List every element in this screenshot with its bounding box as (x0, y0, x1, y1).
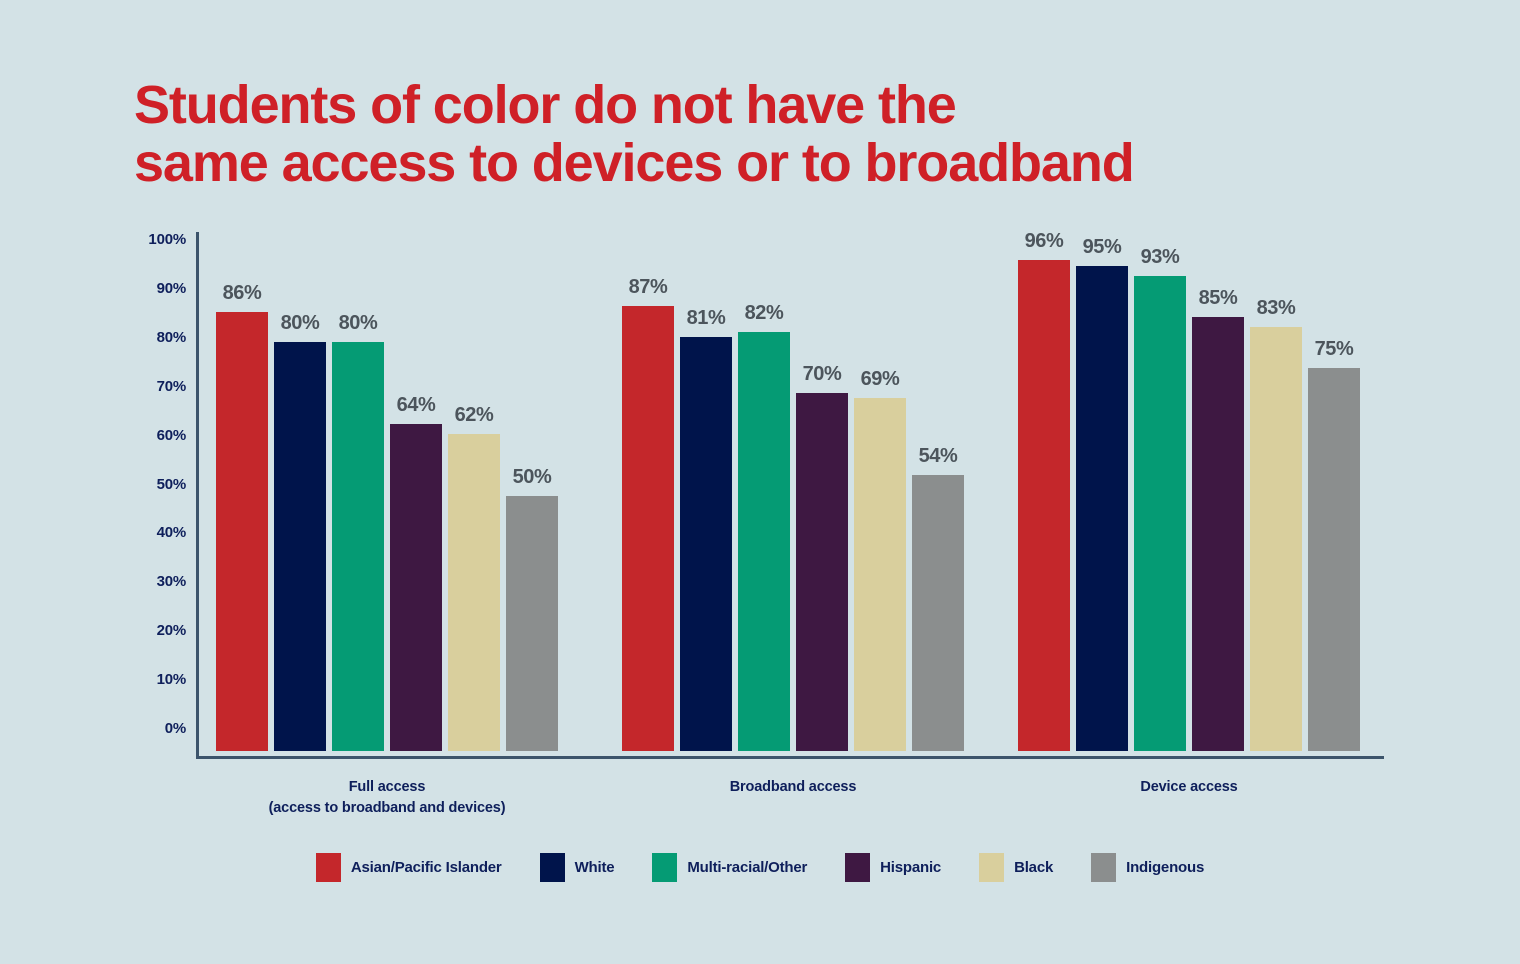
legend-swatch-icon (652, 853, 677, 882)
bars-layer: 86%80%80%64%62%50%Full access(access to … (0, 0, 1520, 964)
bar-value-label: 54% (919, 445, 958, 468)
bar-2-4[interactable]: 83% (1250, 327, 1302, 751)
legend-item-4[interactable]: Black (979, 853, 1053, 882)
bar-value-label: 83% (1257, 297, 1296, 320)
bar-0-3[interactable]: 64% (390, 424, 442, 751)
group-label-2: Device access (939, 777, 1439, 798)
bar-value-label: 64% (397, 394, 436, 417)
bar-value-label: 70% (803, 363, 842, 386)
bar-2-2[interactable]: 93% (1134, 276, 1186, 751)
bar-value-label: 86% (223, 282, 262, 305)
bar-value-label: 75% (1315, 338, 1354, 361)
group-label-line-1: Device access (939, 777, 1439, 798)
legend-item-0[interactable]: Asian/Pacific Islander (316, 853, 502, 882)
bar-value-label: 87% (629, 276, 668, 299)
legend-label: Multi-racial/Other (687, 859, 807, 876)
legend-label: White (575, 859, 615, 876)
bar-0-5[interactable]: 50% (506, 496, 558, 752)
bar-value-label: 93% (1141, 246, 1180, 269)
bar-value-label: 81% (687, 307, 726, 330)
bar-1-0[interactable]: 87% (622, 306, 674, 751)
bar-0-2[interactable]: 80% (332, 342, 384, 751)
legend-label: Hispanic (880, 859, 941, 876)
bar-2-0[interactable]: 96% (1018, 260, 1070, 751)
bar-2-1[interactable]: 95% (1076, 266, 1128, 751)
bar-value-label: 85% (1199, 287, 1238, 310)
legend-item-2[interactable]: Multi-racial/Other (652, 853, 807, 882)
legend-swatch-icon (979, 853, 1004, 882)
legend-swatch-icon (1091, 853, 1116, 882)
bar-value-label: 82% (745, 302, 784, 325)
bar-0-0[interactable]: 86% (216, 312, 268, 751)
bar-value-label: 62% (455, 404, 494, 427)
legend-label: Asian/Pacific Islander (351, 859, 502, 876)
chart-canvas: Students of color do not have the same a… (0, 0, 1520, 964)
legend-swatch-icon (540, 853, 565, 882)
bar-value-label: 96% (1025, 230, 1064, 253)
bar-2-5[interactable]: 75% (1308, 368, 1360, 751)
legend-swatch-icon (316, 853, 341, 882)
bar-1-5[interactable]: 54% (912, 475, 964, 751)
bar-value-label: 80% (281, 312, 320, 335)
bar-value-label: 69% (861, 368, 900, 391)
legend-item-5[interactable]: Indigenous (1091, 853, 1204, 882)
bar-value-label: 50% (513, 466, 552, 489)
legend-label: Black (1014, 859, 1053, 876)
legend-swatch-icon (845, 853, 870, 882)
legend-item-3[interactable]: Hispanic (845, 853, 941, 882)
chart-legend: Asian/Pacific IslanderWhiteMulti-racial/… (0, 853, 1520, 882)
legend-label: Indigenous (1126, 859, 1204, 876)
bar-1-4[interactable]: 69% (854, 398, 906, 751)
bar-0-4[interactable]: 62% (448, 434, 500, 751)
bar-2-3[interactable]: 85% (1192, 317, 1244, 751)
legend-item-1[interactable]: White (540, 853, 615, 882)
bar-1-2[interactable]: 82% (738, 332, 790, 751)
bar-value-label: 95% (1083, 236, 1122, 259)
group-label-line-2: (access to broadband and devices) (137, 798, 637, 819)
bar-1-3[interactable]: 70% (796, 393, 848, 751)
bar-1-1[interactable]: 81% (680, 337, 732, 751)
bar-value-label: 80% (339, 312, 378, 335)
bar-0-1[interactable]: 80% (274, 342, 326, 751)
